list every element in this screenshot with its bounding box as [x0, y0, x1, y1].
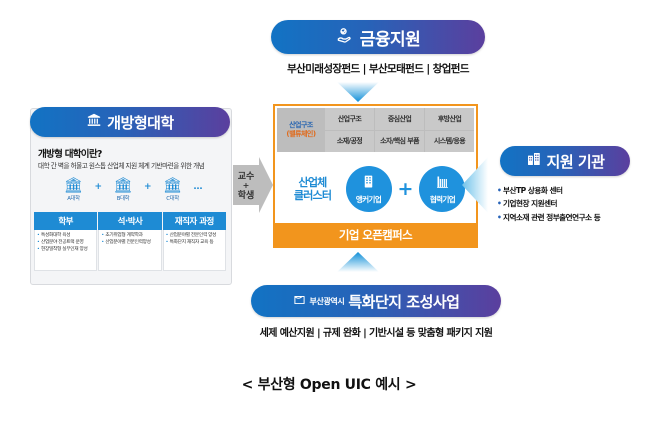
list-item: 현장밀착형 실무인재 양성: [37, 247, 94, 254]
list-item: 산업분야별 전문인력양성: [101, 240, 158, 247]
value-chain-row-1: 산업구조 중심산업 후방산업: [325, 108, 474, 130]
industry-cluster-label-line2: 클러스터: [286, 189, 340, 202]
table-cell: 특성화대학 육성 산업분야 전공트랙 운영 현장밀착형 실무인재 양성: [34, 230, 97, 271]
plus-symbol: +: [398, 178, 414, 200]
arrow-left-icon: [462, 157, 488, 217]
value-chain-cell: 중심산업: [375, 108, 424, 130]
value-chain-label: 산업구조 (밸류체인): [277, 108, 325, 152]
anchor-company-label: 앵커기업: [356, 194, 381, 205]
value-chain-cell: 소재/공정: [325, 131, 374, 153]
industry-cluster-row: 산업체 클러스터 앵커기업 +: [277, 160, 474, 218]
buildings-icon: [526, 151, 542, 171]
value-chain-grid: 산업구조 중심산업 후방산업 소재/공정 소자/핵심 부품 시스템/응용: [325, 108, 474, 152]
finance-support-badge: 금융지원: [271, 20, 485, 54]
university-unit-label: A대학: [67, 194, 79, 202]
special-complex-block: 부산광역시 특화단지 조성사업 세제 예산지원 | 규제 완화 | 기반시설 등…: [251, 285, 501, 339]
classical-building-icon: 🏛: [163, 178, 182, 193]
busan-city-icon: [293, 292, 306, 310]
table-column-employee: 재직자 과정 산업분야별 전문인력 양성 특화단지 재직자 교육 등: [163, 212, 226, 271]
value-chain-cell: 소자/핵심 부품: [375, 131, 424, 153]
value-chain-label-line1: 산업구조: [289, 121, 313, 130]
support-org-title: 지원 기관: [547, 151, 605, 172]
factory-icon: [435, 174, 450, 192]
value-chain-cell: 산업구조: [325, 108, 374, 130]
special-complex-subtitle: 세제 예산지원 | 규제 완화 | 기반시설 등 맞춤형 패키지 지원: [251, 324, 501, 339]
finance-support-subtitle: 부산미래성장펀드 | 부산모태펀드 | 창업펀드: [271, 61, 485, 76]
anchor-company-circle: 앵커기업: [346, 166, 392, 212]
svg-text:학생: 학생: [238, 189, 255, 201]
svg-text:+: +: [243, 181, 250, 190]
value-chain-row: 산업구조 (밸류체인) 산업구조 중심산업 후방산업 소재/공정 소자/핵심 부…: [277, 108, 474, 152]
finance-support-block: 금융지원 부산미래성장펀드 | 부산모태펀드 | 창업펀드: [271, 20, 485, 76]
value-chain-row-2: 소재/공정 소자/핵심 부품 시스템/응용: [325, 131, 474, 153]
office-building-icon: [361, 174, 376, 192]
finance-support-title: 금융지원: [360, 25, 421, 50]
special-complex-title: 특화단지 조성사업: [348, 291, 459, 312]
university-unit-c: 🏛 C대학: [159, 178, 187, 202]
figure-caption: < 부산형 Open UIC 예시 >: [0, 374, 658, 394]
industry-cluster-label-line1: 산업체: [286, 176, 340, 189]
table-cell: 초기취업형 계약학과 산업분야별 전문인력양성: [98, 230, 161, 271]
university-unit-label: C대학: [166, 194, 178, 202]
table-cell: 산업분야별 전문인력 양성 특화단지 재직자 교육 등: [163, 230, 226, 271]
table-header: 재직자 과정: [163, 212, 226, 230]
plus-symbol: +: [144, 178, 152, 192]
list-item: 지역소재 관련 정부출연연구소 등: [497, 211, 647, 224]
table-column-undergraduate: 학부 특성화대학 육성 산업분야 전공트랙 운영 현장밀착형 실무인재 양성: [34, 212, 97, 271]
university-unit-icons: 🏛 A대학 + 🏛 B대학 + 🏛 C대학 …: [38, 178, 224, 202]
professor-student-arrow: 교수 + 학생: [233, 157, 273, 217]
arrow-up-icon: [337, 252, 379, 276]
hand-coin-icon: [336, 25, 355, 49]
open-campus-bar: 기업 오픈캠퍼스: [275, 223, 476, 246]
university-unit-b: 🏛 B대학: [109, 178, 137, 202]
table-header: 학부: [34, 212, 97, 230]
ellipsis-symbol: …: [194, 178, 203, 192]
classical-building-icon: [86, 112, 102, 132]
partner-company-circle: 협력기업: [419, 166, 465, 212]
list-item: 부산TP 상용화 센터: [497, 184, 647, 197]
plus-symbol: +: [94, 178, 102, 192]
partner-company-label: 협력기업: [430, 194, 455, 205]
value-chain-cell: 시스템/응용: [425, 131, 474, 153]
diagram-canvas: 금융지원 부산미래성장펀드 | 부산모태펀드 | 창업펀드 개방형대학 개방형 …: [0, 0, 658, 423]
university-program-table: 학부 특성화대학 육성 산업분야 전공트랙 운영 현장밀착형 실무인재 양성 석…: [34, 212, 226, 271]
list-item: 특성화대학 육성: [37, 233, 94, 240]
list-item: 초기취업형 계약학과: [101, 233, 158, 240]
classical-building-icon: 🏛: [113, 178, 132, 193]
list-item: 산업분야 전공트랙 운영: [37, 240, 94, 247]
list-item: 특화단지 재직자 교육 등: [166, 240, 223, 247]
industry-cluster-label: 산업체 클러스터: [286, 176, 340, 202]
open-university-title: 개방형대학: [107, 112, 174, 133]
classical-building-icon: 🏛: [64, 178, 83, 193]
open-university-description: 대학 간 벽을 허물고 원스톱 산업체 지원 체계 기반마련을 위한 개념: [38, 162, 224, 170]
open-university-badge: 개방형대학: [30, 107, 230, 137]
university-unit-label: B대학: [117, 194, 129, 202]
arrow-down-icon: [337, 82, 379, 106]
table-header: 석·박사: [98, 212, 161, 230]
support-org-list: 부산TP 상용화 센터 기업현장 지원센터 지역소재 관련 정부출연연구소 등: [497, 184, 647, 224]
list-item: 기업현장 지원센터: [497, 197, 647, 210]
special-complex-city: 부산광역시: [310, 296, 345, 307]
support-org-badge: 지원 기관: [500, 146, 630, 176]
open-university-question: 개방형 대학이란?: [38, 146, 224, 160]
university-unit-a: 🏛 A대학: [59, 178, 87, 202]
value-chain-label-line2: (밸류체인): [286, 130, 315, 139]
special-complex-badge: 부산광역시 특화단지 조성사업: [251, 285, 501, 317]
list-item: 산업분야별 전문인력 양성: [166, 233, 223, 240]
open-university-body: 개방형 대학이란? 대학 간 벽을 허물고 원스톱 산업체 지원 체계 기반마련…: [38, 146, 224, 202]
table-column-graduate: 석·박사 초기취업형 계약학과 산업분야별 전문인력양성: [98, 212, 161, 271]
value-chain-cell: 후방산업: [425, 108, 474, 130]
